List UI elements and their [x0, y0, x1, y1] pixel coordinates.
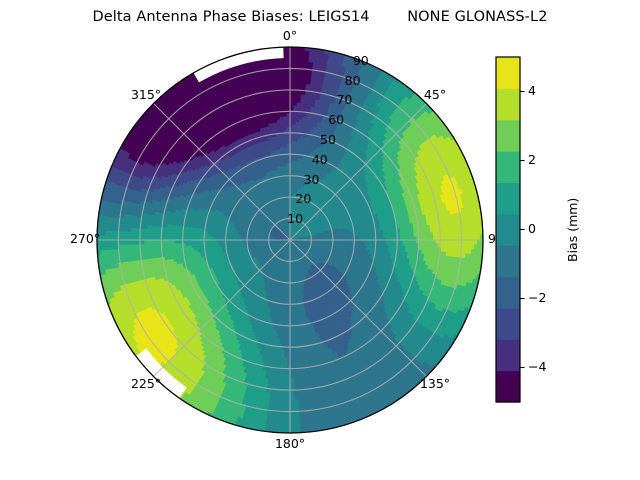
figure-canvas: Delta Antenna Phase Biases: LEIGS14 NONE… — [0, 0, 640, 480]
theta-tick-315: 315° — [116, 87, 176, 102]
radial-tick-80: 80 — [345, 73, 361, 88]
colorbar-tick--4: −4 — [528, 359, 546, 374]
theta-tick-135: 135° — [405, 376, 465, 391]
colorbar-tick-0: 0 — [528, 221, 536, 236]
radial-tick-90: 90 — [353, 53, 369, 68]
radial-tick-30: 30 — [304, 172, 320, 187]
theta-tick-180: 180° — [260, 436, 320, 451]
colorbar-axis-label: Bias (mm) — [565, 197, 580, 261]
radial-tick-60: 60 — [328, 112, 344, 127]
radial-tick-10: 10 — [287, 211, 303, 226]
radial-tick-50: 50 — [320, 132, 336, 147]
radial-tick-70: 70 — [336, 92, 352, 107]
radial-tick-40: 40 — [312, 152, 328, 167]
radial-tick-20: 20 — [295, 191, 311, 206]
colorbar — [480, 40, 600, 480]
theta-tick-45: 45° — [405, 87, 465, 102]
theta-tick-225: 225° — [116, 376, 176, 391]
colorbar-tick--2: −2 — [528, 290, 546, 305]
theta-tick-0: 0° — [260, 28, 320, 43]
theta-tick-270: 270° — [55, 231, 115, 246]
colorbar-tick-4: 4 — [528, 83, 536, 98]
colorbar-tick-2: 2 — [528, 152, 536, 167]
